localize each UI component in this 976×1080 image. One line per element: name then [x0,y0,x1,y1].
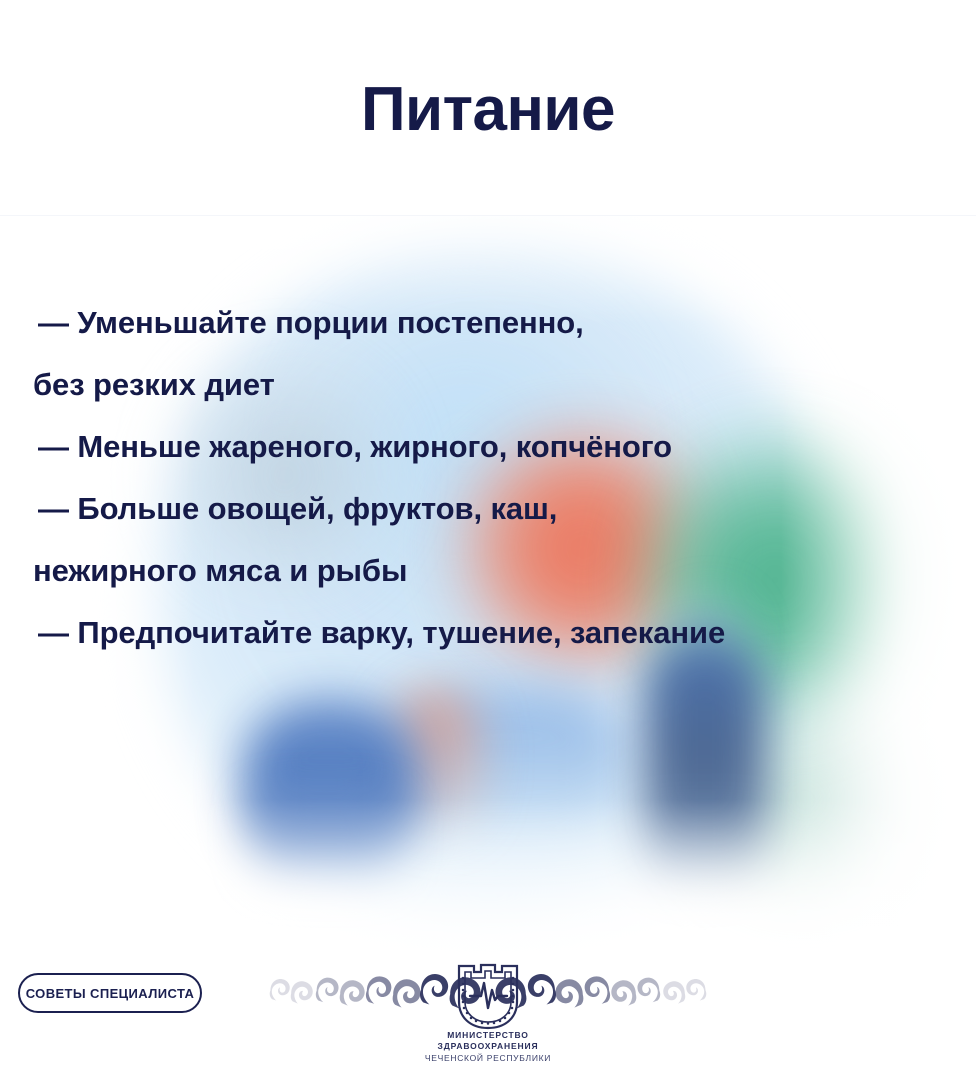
ministry-name-line3: ЧЕЧЕНСКОЙ РЕСПУБЛИКИ [263,1052,713,1064]
header-band: Питание [0,0,976,216]
backdrop-figure-left [243,700,418,865]
nutrition-infographic-card: Питание — Уменьшайте порции постепенно,б… [0,0,976,1080]
tip-line: — Предпочитайте варку, тушение, запекани… [33,602,963,664]
backdrop-figure-left-lower [258,800,393,880]
ministry-name: МИНИСТЕРСТВО ЗДРАВООХРАНЕНИЯ ЧЕЧЕНСКОЙ Р… [263,1030,713,1064]
tips-list: — Уменьшайте порции постепенно,без резки… [33,292,963,664]
tip-line: — Меньше жареного, жирного, копчёного [33,416,963,478]
tip-line: без резких диет [33,354,963,416]
ministry-name-line2: ЗДРАВООХРАНЕНИЯ [263,1041,713,1052]
ministry-logo: МИНИСТЕРСТВО ЗДРАВООХРАНЕНИЯ ЧЕЧЕНСКОЙ Р… [263,962,713,1068]
page-title: Питание [0,79,976,141]
tip-line: нежирного мяса и рыбы [33,540,963,602]
backdrop-figure-center-warm [390,690,480,840]
specialist-advice-badge[interactable]: СОВЕТЫ СПЕЦИАЛИСТА [18,973,202,1013]
ministry-name-line1: МИНИСТЕРСТВО [263,1030,713,1041]
tip-line: — Больше овощей, фруктов, каш, [33,478,963,540]
backdrop-green-lower-blob [690,700,920,900]
shield-heartbeat-icon [450,962,526,1032]
backdrop-figure-right [645,640,765,885]
tip-line: — Уменьшайте порции постепенно, [33,292,963,354]
backdrop-figure-center [395,690,625,840]
specialist-advice-badge-label: СОВЕТЫ СПЕЦИАЛИСТА [26,986,195,1001]
